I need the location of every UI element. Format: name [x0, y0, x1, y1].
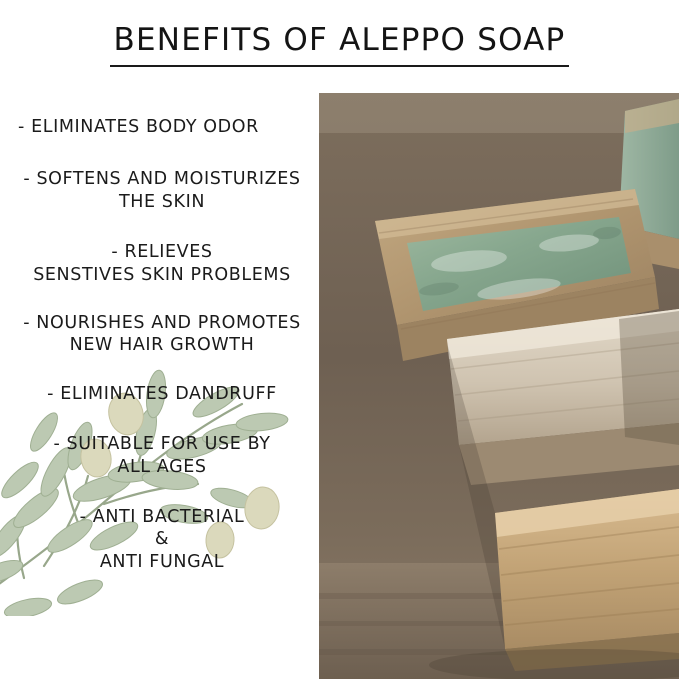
soap-bar-middle [447, 309, 679, 485]
list-item: - ELIMINATES BODY ODOR [6, 116, 318, 138]
list-item: - NOURISHES AND PROMOTES NEW HAIR GROWTH [6, 312, 318, 357]
list-item: - RELIEVES SENSTIVES SKIN PROBLEMS [6, 241, 318, 286]
list-item: - SOFTENS AND MOISTURIZES THE SKIN [6, 168, 318, 213]
soap-photo [319, 93, 679, 679]
poster: Benefits of Aleppo Soap [0, 0, 679, 679]
soap-bar-bottom [495, 489, 679, 671]
page-title: Benefits of Aleppo Soap [110, 22, 570, 67]
list-item: - SUITABLE FOR USE BY ALL AGES [6, 433, 318, 478]
benefits-list: - ELIMINATES BODY ODOR - SOFTENS AND MOI… [6, 112, 318, 672]
title-block: Benefits of Aleppo Soap [0, 22, 679, 67]
list-item: - ELIMINATES DANDRUFF [6, 383, 318, 405]
list-item: - ANTI BACTERIAL & ANTI FUNGAL [6, 506, 318, 573]
